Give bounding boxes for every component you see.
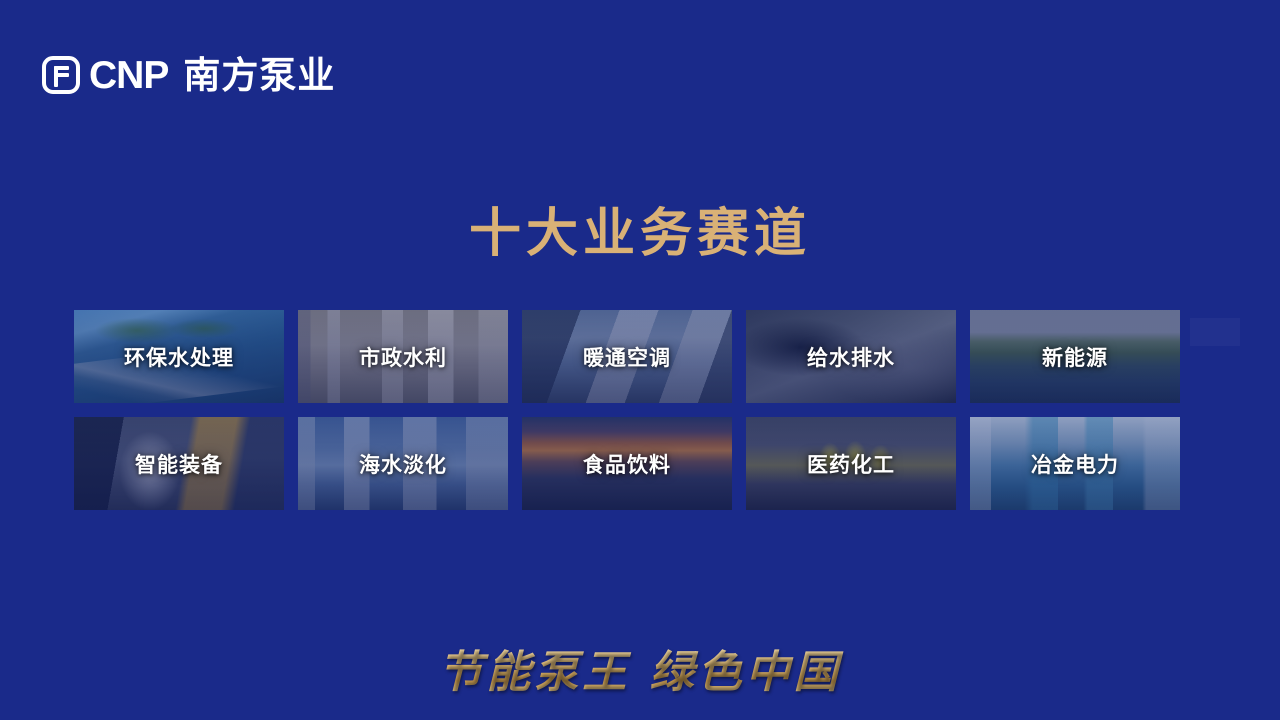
business-card-shipinyinliao[interactable]: 食品饮料 [522, 417, 732, 510]
decorative-rectangle [1190, 318, 1240, 346]
business-card-zhinengzhuangbei[interactable]: 智能装备 [74, 417, 284, 510]
card-label: 冶金电力 [1031, 449, 1119, 479]
business-card-haishuidanhua[interactable]: 海水淡化 [298, 417, 508, 510]
card-label: 环保水处理 [124, 342, 234, 372]
business-card-xinnengyuan[interactable]: 新能源 [970, 310, 1180, 403]
cnp-logo-mark-icon [42, 56, 80, 94]
card-label: 海水淡化 [359, 449, 447, 479]
page-title: 十大业务赛道 [0, 203, 1280, 265]
business-card-jishuipaishui[interactable]: 给水排水 [746, 310, 956, 403]
card-label: 食品饮料 [583, 449, 671, 479]
card-label: 市政水利 [359, 342, 447, 372]
card-label: 暖通空调 [583, 342, 671, 372]
slide-tagline: 节能泵王 绿色中国 [0, 636, 1280, 700]
business-card-shizhengshuili[interactable]: 市政水利 [298, 310, 508, 403]
card-label: 智能装备 [135, 449, 223, 479]
business-card-yejindianli[interactable]: 冶金电力 [970, 417, 1180, 510]
presentation-slide: CNP 南方泵业 十大业务赛道 环保水处理 市政水利 暖通空调 给水排水 [0, 0, 1280, 720]
business-card-yiyaohuagong[interactable]: 医药化工 [746, 417, 956, 510]
card-label: 医药化工 [807, 449, 895, 479]
brand-chinese-name: 南方泵业 [183, 57, 335, 94]
business-card-nuantongkongtiao[interactable]: 暖通空调 [522, 310, 732, 403]
business-track-grid: 环保水处理 市政水利 暖通空调 给水排水 新能源 智能装备 [74, 310, 1184, 510]
brand-logo: CNP 南方泵业 [42, 52, 335, 98]
business-card-huanbaoshuichuli[interactable]: 环保水处理 [74, 310, 284, 403]
card-label: 给水排水 [807, 342, 895, 372]
brand-latin-name: CNP [89, 56, 168, 95]
card-label: 新能源 [1042, 342, 1108, 372]
